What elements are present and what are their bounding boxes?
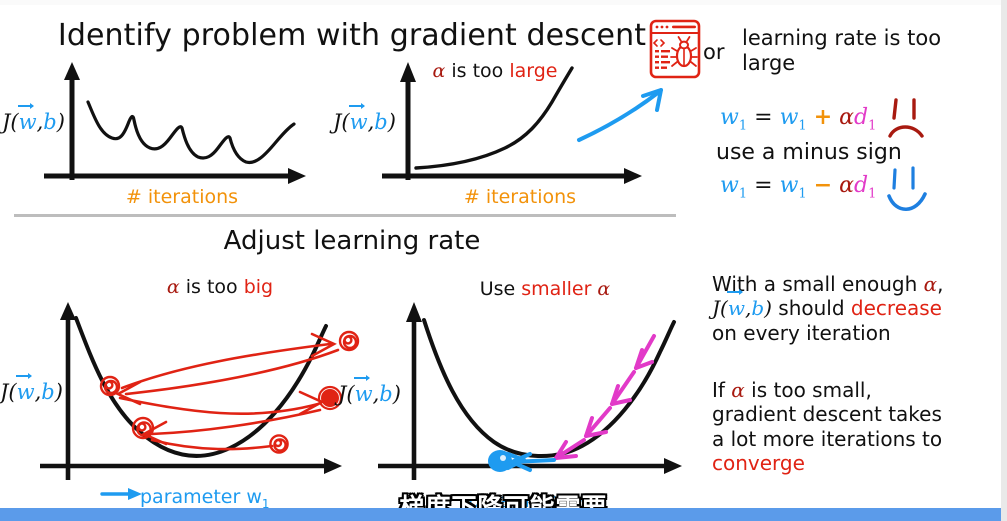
note1-red-word: decrease	[851, 296, 942, 320]
note2-red-word: converge	[712, 451, 805, 475]
note1-line3: on every iteration	[712, 321, 891, 345]
happy-face-doodle	[884, 168, 940, 220]
w-symbol: w	[17, 380, 35, 404]
cost-curve-convex	[76, 318, 326, 456]
caption-red-word: smaller	[521, 278, 597, 300]
caption-mid-text: is too	[180, 276, 244, 298]
paren-close: )	[57, 110, 65, 134]
note1-line2-mid: should	[772, 296, 851, 320]
browser-urlbar	[672, 26, 696, 29]
page-title: Identify problem with gradient descent	[42, 18, 662, 53]
cost-curve-convex	[424, 320, 674, 456]
alpha-symbol: α	[839, 173, 854, 198]
alpha-symbol: α	[167, 276, 180, 298]
oscillating-cost-curve	[88, 102, 294, 162]
happy-face-svg	[884, 168, 940, 220]
happy-eye-left	[894, 170, 895, 188]
top-edge-strip	[0, 0, 1001, 5]
y-axis-label-cost-2: J(w,b)	[333, 110, 396, 134]
caption-use-smaller-alpha: Use smaller α	[430, 278, 660, 300]
browser-dot	[666, 26, 669, 29]
plus-operator: +	[814, 104, 832, 130]
paren-close: )	[393, 382, 401, 406]
vector-arrow-icon	[727, 291, 742, 293]
w-left: w1	[720, 173, 747, 198]
arrow-3-shaft	[120, 398, 318, 414]
caption-red-word: big	[244, 276, 273, 298]
b-symbol: b	[41, 380, 54, 404]
chart-smaller-alpha-svg	[360, 300, 700, 500]
code-line	[655, 67, 659, 69]
sad-face-doodle	[884, 98, 936, 144]
w-symbol: w	[350, 110, 368, 134]
caption-alpha-too-big: α is too big	[120, 276, 320, 298]
w-right: w1	[780, 105, 807, 130]
section-title: Adjust learning rate	[42, 226, 662, 256]
j-cost-inline: J(w,b)	[712, 296, 772, 320]
sad-mouth	[890, 127, 922, 136]
y-axis-label-cost-3: J(w,b)	[0, 380, 63, 404]
y-axis-arrowhead	[60, 302, 76, 320]
iterate-marker-filled	[321, 389, 339, 407]
note2-line2: gradient descent takes	[712, 402, 942, 426]
descent-arrows	[556, 336, 654, 458]
iterate-5	[270, 435, 287, 452]
use-minus-sign-note: use a minus sign	[716, 140, 902, 165]
b-symbol: b	[379, 382, 392, 406]
j-symbol: J(	[2, 110, 19, 134]
b-symbol: b	[43, 110, 56, 134]
note2-line3: a lot more iterations to	[712, 427, 942, 451]
x-axis-arrowhead	[324, 458, 342, 474]
x-axis-arrowhead	[664, 458, 682, 474]
alpha-symbol: α	[839, 105, 854, 130]
note-alpha-too-small: If α is too small, gradient descent take…	[712, 378, 997, 476]
bug-browser-icon[interactable]	[648, 18, 702, 80]
j-symbol: J(	[333, 110, 350, 134]
browser-dot	[661, 26, 664, 29]
b-symbol: b	[374, 110, 387, 134]
note-small-enough-alpha: With a small enough α, J(w,b) should dec…	[712, 272, 997, 345]
alpha-symbol: α	[924, 272, 938, 296]
paren-close: )	[55, 380, 63, 404]
blue-arrow-svg	[575, 70, 685, 150]
slide-canvas: Identify problem with gradient descent J…	[0, 0, 1007, 521]
caption-pre-text: Use	[480, 278, 522, 300]
alpha-symbol: α	[731, 378, 745, 402]
y-axis-arrowhead	[64, 62, 80, 80]
note2-line1-pre: If	[712, 378, 731, 402]
equals-sign: =	[754, 105, 772, 130]
note2-line1-post: is too small,	[745, 378, 872, 402]
formula-with-bug: w1 = w1 + αd1	[720, 104, 876, 133]
note1-line1-post: ,	[937, 272, 943, 296]
chart-use-smaller-alpha	[360, 300, 700, 500]
formula-fixed: w1 = w1 − αd1	[720, 172, 876, 201]
sad-face-svg	[884, 98, 936, 144]
x-axis-label-iterations-1: # iterations	[82, 186, 282, 208]
converged-point-marker	[488, 450, 512, 472]
x-axis-arrowhead	[288, 168, 306, 184]
happy-mouth	[889, 194, 925, 209]
paren-close: )	[388, 110, 396, 134]
arrow-5-shaft	[152, 440, 272, 449]
note1-line1-pre: With a small enough	[712, 272, 924, 296]
bug-head	[680, 42, 688, 49]
video-progress-fill	[0, 508, 1001, 521]
or-label: or	[703, 40, 724, 64]
video-progress-bar[interactable]	[0, 508, 1001, 521]
code-line	[661, 50, 670, 52]
minus-operator: −	[814, 172, 832, 198]
y-axis-arrowhead	[400, 62, 416, 82]
w-right: w1	[780, 173, 807, 198]
code-line	[655, 50, 659, 52]
section-divider	[14, 214, 676, 217]
x-axis-arrowhead	[624, 168, 642, 184]
diverging-cost-curve	[416, 68, 572, 168]
j-symbol: J(	[0, 380, 17, 404]
code-line	[661, 67, 667, 69]
vector-arrow-icon	[354, 377, 369, 379]
d-term: d1	[854, 105, 876, 130]
sad-eye-left	[894, 100, 896, 118]
arrow-to-bug-icon	[575, 70, 685, 150]
vector-arrow-icon	[349, 105, 364, 107]
w-symbol: w	[355, 382, 373, 406]
converged-point-highlight	[500, 455, 506, 461]
y-axis-arrowhead	[406, 302, 422, 322]
arrow-2-shaft	[126, 350, 338, 394]
blue-arrow-shaft	[579, 92, 659, 140]
y-axis-label-cost-1: J(w,b)	[2, 110, 65, 134]
alpha-symbol: α	[597, 278, 610, 300]
code-line	[661, 56, 668, 58]
code-line	[655, 61, 659, 63]
learning-rate-too-large-note: learning rate is too large	[742, 26, 982, 76]
bug-icon-svg	[648, 18, 702, 80]
x-axis-label-iterations-2: # iterations	[420, 186, 620, 208]
browser-dot	[656, 26, 659, 29]
iterate-2	[340, 332, 358, 350]
j-symbol: J(	[338, 382, 355, 406]
vector-arrow-icon	[18, 105, 33, 107]
y-axis-label-cost-4: J(w,b)	[338, 382, 401, 406]
vector-arrow-icon	[16, 375, 31, 377]
code-line	[661, 61, 670, 63]
code-line	[655, 56, 659, 58]
equals-sign: =	[754, 173, 772, 198]
d-term: d1	[854, 173, 876, 198]
w-symbol: w	[19, 110, 37, 134]
w-left: w1	[720, 105, 747, 130]
